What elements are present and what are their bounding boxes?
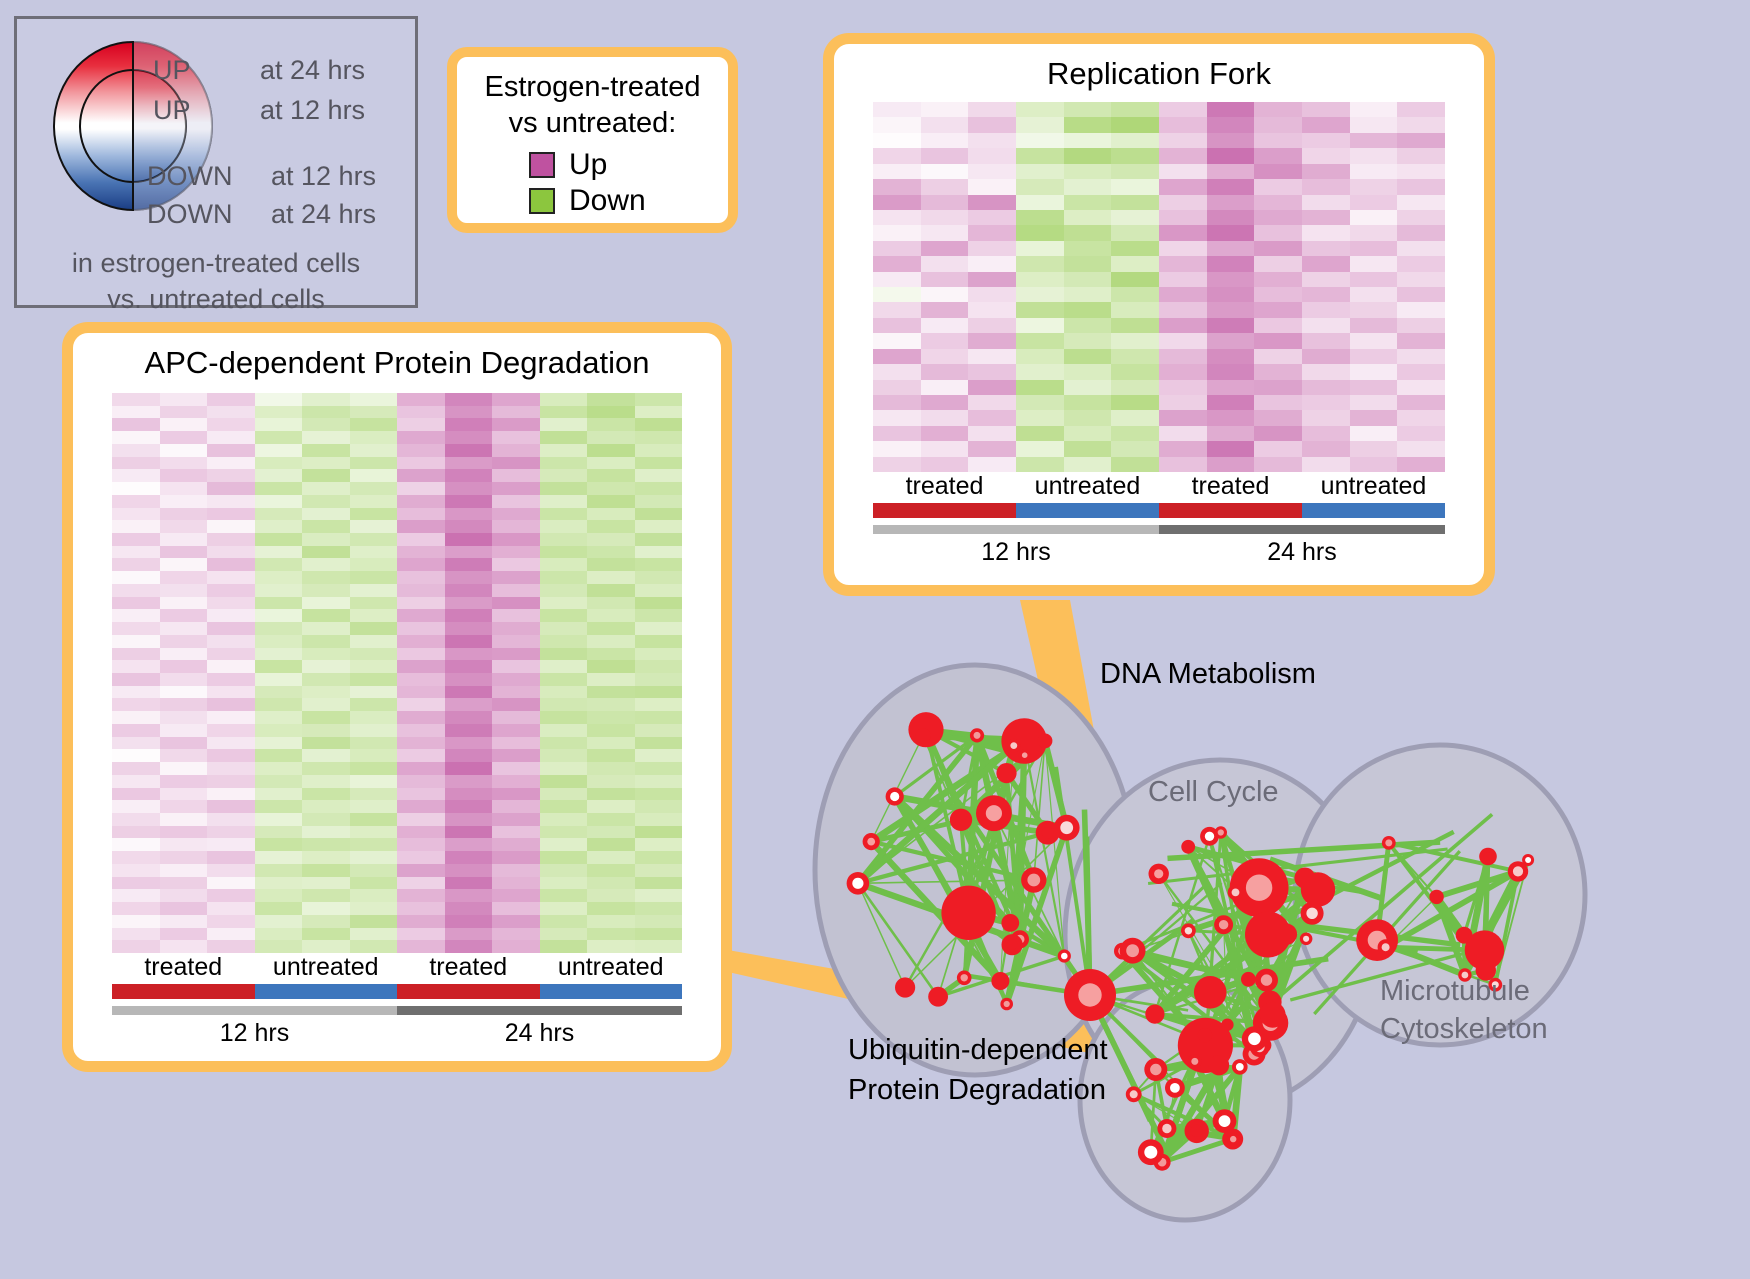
legend-label-down: Down — [569, 184, 646, 218]
heatmap-cell — [302, 571, 350, 584]
heatmap-cell — [492, 826, 540, 839]
heatmap-cell — [255, 558, 303, 571]
heatmap-cell — [1350, 364, 1398, 379]
heatmap-cell — [207, 609, 255, 622]
heatmap-cell — [635, 686, 683, 699]
heatmap-cell — [112, 698, 160, 711]
heatmap-cell — [350, 800, 398, 813]
network-node[interactable] — [950, 809, 972, 831]
heatmap-cell — [540, 800, 588, 813]
apc-axis: treateduntreatedtreateduntreated 12 hrs2… — [112, 953, 682, 1048]
heatmap-cell — [921, 256, 969, 271]
scale-time-down-12: at 12 hrs — [271, 161, 376, 192]
heatmap-cell — [207, 418, 255, 431]
heatmap-cell — [1159, 179, 1207, 194]
heatmap-cell — [587, 418, 635, 431]
heatmap-cell — [540, 877, 588, 890]
heatmap-cell — [540, 940, 588, 953]
heatmap-cell — [1159, 272, 1207, 287]
heatmap-cell — [207, 826, 255, 839]
heatmap-cell — [635, 775, 683, 788]
heatmap-cell — [1207, 395, 1255, 410]
heatmap-cell — [397, 826, 445, 839]
heatmap-cell — [1397, 318, 1445, 333]
network-node-core — [1061, 953, 1068, 960]
heatmap-cell — [207, 622, 255, 635]
heatmap-cell — [1397, 380, 1445, 395]
heatmap-cell — [445, 418, 493, 431]
heatmap-cell — [255, 838, 303, 851]
heatmap-cell — [350, 406, 398, 419]
heatmap-cell — [255, 622, 303, 635]
heatmap-cell — [921, 426, 969, 441]
network-node[interactable] — [1241, 972, 1256, 987]
heatmap-cell — [302, 724, 350, 737]
heatmap-cell — [160, 711, 208, 724]
heatmap-cell — [350, 673, 398, 686]
heatmap-cell — [540, 762, 588, 775]
network-node[interactable] — [1038, 734, 1053, 749]
heatmap-cell — [397, 648, 445, 661]
heatmap-cell — [160, 457, 208, 470]
heatmap-cell — [1064, 225, 1112, 240]
heatmap-cell — [1397, 256, 1445, 271]
heatmap-cell — [635, 851, 683, 864]
heatmap-cell — [350, 520, 398, 533]
heatmap-cell — [207, 813, 255, 826]
heatmap-cell — [255, 457, 303, 470]
heatmap-cell — [873, 179, 921, 194]
heatmap-cell — [540, 813, 588, 826]
heatmap-cell — [587, 889, 635, 902]
heatmap-cell — [160, 902, 208, 915]
heatmap-cell — [1159, 426, 1207, 441]
heatmap-cell — [1397, 457, 1445, 472]
heatmap-cell — [1064, 133, 1112, 148]
heatmap-cell — [350, 698, 398, 711]
heatmap-cell — [1207, 380, 1255, 395]
network-node[interactable] — [1001, 914, 1019, 932]
time-group-label: 12 hrs — [873, 538, 1159, 567]
heatmap-cell — [540, 431, 588, 444]
heatmap-cell — [1302, 364, 1350, 379]
heatmap-cell — [635, 877, 683, 890]
heatmap-cell — [1207, 225, 1255, 240]
heatmap-cell — [968, 395, 1016, 410]
heatmap-cell — [1159, 164, 1207, 179]
legend-item-down: Down — [529, 183, 728, 219]
network-node-core — [1130, 1090, 1138, 1098]
heatmap-cell — [968, 210, 1016, 225]
heatmap-cell — [1207, 195, 1255, 210]
heatmap-cell — [968, 225, 1016, 240]
heatmap-cell — [350, 940, 398, 953]
heatmap-cell — [1350, 179, 1398, 194]
heatmap-cell — [1159, 364, 1207, 379]
heatmap-cell — [1159, 102, 1207, 117]
heatmap-cell — [1016, 256, 1064, 271]
panel-replication-fork: Replication Fork treateduntreatedtreated… — [823, 33, 1495, 596]
heatmap-cell — [302, 915, 350, 928]
heatmap-cell — [397, 686, 445, 699]
heatmap-cell — [255, 418, 303, 431]
heatmap-cell — [1302, 102, 1350, 117]
heatmap-cell — [1302, 272, 1350, 287]
heatmap-cell — [1254, 210, 1302, 225]
heatmap-cell — [1064, 148, 1112, 163]
heatmap-cell — [350, 788, 398, 801]
heatmap-cell — [1159, 195, 1207, 210]
heatmap-cell — [1016, 395, 1064, 410]
heatmap-cell — [1302, 395, 1350, 410]
heatmap-cell — [1397, 302, 1445, 317]
heatmap-cell — [1254, 256, 1302, 271]
heatmap-cell — [445, 788, 493, 801]
heatmap-cell — [540, 711, 588, 724]
heatmap-cell — [1302, 457, 1350, 472]
network-node[interactable] — [1194, 976, 1227, 1009]
heatmap-cell — [255, 813, 303, 826]
heatmap-cell — [968, 102, 1016, 117]
apc-group-labels: treateduntreatedtreateduntreated — [112, 953, 682, 982]
heatmap-cell — [255, 635, 303, 648]
heatmap-cell — [207, 698, 255, 711]
heatmap-cell — [1207, 349, 1255, 364]
heatmap-cell — [540, 749, 588, 762]
heatmap-cell — [635, 813, 683, 826]
heatmap-cell — [540, 902, 588, 915]
heatmap-cell — [1016, 364, 1064, 379]
heatmap-cell — [350, 558, 398, 571]
heatmap-cell — [445, 838, 493, 851]
heatmap-cell — [873, 426, 921, 441]
heatmap-cell — [445, 660, 493, 673]
network-node[interactable] — [1145, 1005, 1164, 1024]
replication-fork-axis: treateduntreatedtreateduntreated 12 hrs2… — [873, 472, 1445, 567]
heatmap-cell — [255, 877, 303, 890]
heatmap-cell — [1207, 148, 1255, 163]
heatmap-cell — [1254, 380, 1302, 395]
heatmap-cell — [112, 762, 160, 775]
heatmap-cell — [492, 889, 540, 902]
heatmap-cell — [1397, 164, 1445, 179]
heatmap-cell — [1064, 457, 1112, 472]
heatmap-cell — [1397, 333, 1445, 348]
heatmap-cell — [1207, 210, 1255, 225]
heatmap-cell — [1111, 164, 1159, 179]
heatmap-cell — [397, 660, 445, 673]
heatmap-cell — [921, 302, 969, 317]
heatmap-cell — [397, 838, 445, 851]
heatmap-cell — [1254, 364, 1302, 379]
heatmap-cell — [302, 635, 350, 648]
heatmap-cell — [968, 179, 1016, 194]
heatmap-cell — [1397, 272, 1445, 287]
heatmap-cell — [635, 533, 683, 546]
heatmap-cell — [1302, 333, 1350, 348]
heatmap-cell — [397, 889, 445, 902]
heatmap-cell — [160, 737, 208, 750]
heatmap-cell — [160, 495, 208, 508]
heatmap-cell — [540, 469, 588, 482]
heatmap-cell — [492, 406, 540, 419]
heatmap-cell — [492, 648, 540, 661]
heatmap-cell — [1302, 164, 1350, 179]
heatmap-cell — [873, 102, 921, 117]
heatmap-cell — [112, 660, 160, 673]
heatmap-cell — [1350, 133, 1398, 148]
heatmap-cell — [1016, 241, 1064, 256]
heatmap-cell — [302, 520, 350, 533]
heatmap-cell — [255, 800, 303, 813]
heatmap-cell — [635, 673, 683, 686]
heatmap-cell — [445, 698, 493, 711]
heatmap-cell — [968, 272, 1016, 287]
heatmap-cell — [350, 508, 398, 521]
heatmap-cell — [350, 648, 398, 661]
heatmap-cell — [160, 724, 208, 737]
heatmap-cell — [1254, 102, 1302, 117]
heatmap-cell — [445, 406, 493, 419]
heatmap-cell — [1397, 287, 1445, 302]
heatmap-cell — [1064, 395, 1112, 410]
heatmap-cell — [492, 877, 540, 890]
heatmap-cell — [635, 660, 683, 673]
heatmap-cell — [1207, 117, 1255, 132]
heatmap-cell — [350, 431, 398, 444]
heatmap-cell — [350, 660, 398, 673]
network-node[interactable] — [941, 886, 995, 940]
network-node-core — [852, 878, 863, 889]
expression-legend-title-line2: vs untreated: — [457, 105, 728, 141]
heatmap-cell — [587, 698, 635, 711]
heatmap-cell — [1254, 441, 1302, 456]
heatmap-cell — [587, 406, 635, 419]
heatmap-cell — [1254, 225, 1302, 240]
heatmap-cell — [587, 584, 635, 597]
heatmap-cell — [160, 648, 208, 661]
heatmap-cell — [160, 597, 208, 610]
heatmap-cell — [350, 902, 398, 915]
heatmap-cell — [1159, 256, 1207, 271]
heatmap-cell — [968, 302, 1016, 317]
network-node[interactable] — [1221, 1019, 1233, 1031]
heatmap-cell — [160, 788, 208, 801]
heatmap-cell — [397, 584, 445, 597]
heatmap-cell — [207, 546, 255, 559]
heatmap-cell — [302, 902, 350, 915]
heatmap-cell — [1207, 426, 1255, 441]
network-node[interactable] — [1209, 1055, 1229, 1075]
heatmap-cell — [540, 597, 588, 610]
heatmap-cell — [207, 469, 255, 482]
heatmap-cell — [160, 686, 208, 699]
heatmap-cell — [1016, 349, 1064, 364]
heatmap-cell — [112, 495, 160, 508]
heatmap-cell — [302, 940, 350, 953]
heatmap-cell — [397, 609, 445, 622]
heatmap-cell — [540, 864, 588, 877]
heatmap-cell — [1397, 102, 1445, 117]
heatmap-cell — [540, 635, 588, 648]
heatmap-cell — [397, 520, 445, 533]
heatmap-cell — [445, 520, 493, 533]
network-node[interactable] — [1456, 927, 1473, 944]
heatmap-cell — [302, 826, 350, 839]
heatmap-cell — [255, 533, 303, 546]
network-node[interactable] — [1198, 1028, 1212, 1042]
heatmap-cell — [397, 546, 445, 559]
heatmap-cell — [1350, 272, 1398, 287]
heatmap-cell — [968, 380, 1016, 395]
heatmap-cell — [445, 457, 493, 470]
heatmap-cell — [587, 724, 635, 737]
heatmap-cell — [635, 597, 683, 610]
heatmap-cell — [445, 495, 493, 508]
heatmap-cell — [635, 940, 683, 953]
heatmap-cell — [1350, 380, 1398, 395]
heatmap-cell — [350, 418, 398, 431]
heatmap-cell — [160, 826, 208, 839]
network-node-core — [1144, 1146, 1157, 1159]
heatmap-cell — [255, 889, 303, 902]
heatmap-cell — [1302, 302, 1350, 317]
heatmap-cell — [587, 495, 635, 508]
heatmap-cell — [207, 940, 255, 953]
heatmap-cell — [587, 838, 635, 851]
heatmap-cell — [968, 287, 1016, 302]
heatmap-cell — [350, 889, 398, 902]
heatmap-cell — [1064, 179, 1112, 194]
heatmap-cell — [350, 533, 398, 546]
heatmap-cell — [1111, 318, 1159, 333]
heatmap-cell — [207, 800, 255, 813]
heatmap-cell — [587, 864, 635, 877]
heatmap-cell — [207, 686, 255, 699]
heatmap-cell — [255, 928, 303, 941]
heatmap-cell — [1064, 410, 1112, 425]
heatmap-cell — [397, 915, 445, 928]
heatmap-cell — [968, 457, 1016, 472]
heatmap-cell — [587, 469, 635, 482]
network-node[interactable] — [895, 977, 915, 997]
heatmap-cell — [445, 813, 493, 826]
time-bar-segment — [112, 1006, 397, 1015]
apc-heatmap — [112, 393, 682, 953]
heatmap-cell — [1111, 349, 1159, 364]
network-node[interactable] — [996, 763, 1016, 783]
heatmap-cell — [540, 406, 588, 419]
heatmap-cell — [1302, 241, 1350, 256]
heatmap-cell — [112, 889, 160, 902]
scale-footnote-line1: in estrogen-treated cells — [17, 245, 415, 281]
heatmap-cell — [397, 406, 445, 419]
heatmap-cell — [207, 889, 255, 902]
heatmap-cell — [255, 851, 303, 864]
heatmap-cell — [968, 117, 1016, 132]
heatmap-cell — [112, 737, 160, 750]
heatmap-cell — [207, 393, 255, 406]
heatmap-cell — [1159, 210, 1207, 225]
heatmap-cell — [350, 851, 398, 864]
network-node[interactable] — [1294, 868, 1315, 889]
network-node[interactable] — [1276, 924, 1297, 945]
heatmap-cell — [207, 597, 255, 610]
heatmap-cell — [1111, 148, 1159, 163]
heatmap-cell — [302, 418, 350, 431]
heatmap-cell — [492, 571, 540, 584]
heatmap-cell — [302, 851, 350, 864]
heatmap-cell — [255, 673, 303, 686]
heatmap-cell — [160, 431, 208, 444]
heatmap-cell — [587, 546, 635, 559]
network-node[interactable] — [916, 728, 931, 743]
heatmap-cell — [1111, 133, 1159, 148]
heatmap-cell — [587, 902, 635, 915]
heatmap-cell — [1064, 302, 1112, 317]
heatmap-cell — [587, 928, 635, 941]
heatmap-cell — [160, 508, 208, 521]
heatmap-cell — [397, 444, 445, 457]
heatmap-cell — [445, 902, 493, 915]
heatmap-cell — [445, 558, 493, 571]
heatmap-cell — [540, 826, 588, 839]
heatmap-cell — [492, 737, 540, 750]
network-node[interactable] — [1260, 1002, 1286, 1028]
heatmap-cell — [1111, 395, 1159, 410]
heatmap-cell — [255, 495, 303, 508]
heatmap-cell — [1207, 302, 1255, 317]
heatmap-cell — [492, 698, 540, 711]
heatmap-cell — [492, 495, 540, 508]
heatmap-cell — [445, 635, 493, 648]
heatmap-cell — [112, 609, 160, 622]
panel-apc-degradation: APC-dependent Protein Degradation treate… — [62, 322, 732, 1072]
heatmap-cell — [1254, 179, 1302, 194]
heatmap-cell — [873, 256, 921, 271]
heatmap-cell — [397, 813, 445, 826]
heatmap-cell — [160, 889, 208, 902]
heatmap-cell — [255, 546, 303, 559]
heatmap-cell — [1016, 318, 1064, 333]
replication-fork-title: Replication Fork — [834, 56, 1484, 92]
heatmap-cell — [445, 864, 493, 877]
heatmap-cell — [873, 225, 921, 240]
network-node[interactable] — [928, 987, 948, 1007]
heatmap-cell — [302, 444, 350, 457]
heatmap-cell — [350, 928, 398, 941]
heatmap-cell — [921, 380, 969, 395]
heatmap-cell — [587, 800, 635, 813]
heatmap-cell — [968, 426, 1016, 441]
apc-time-bars — [112, 1006, 682, 1015]
network-node-core — [1170, 1083, 1180, 1093]
heatmap-cell — [635, 520, 683, 533]
network-node-core — [1126, 944, 1139, 957]
heatmap-cell — [1207, 179, 1255, 194]
heatmap-cell — [492, 686, 540, 699]
heatmap-cell — [635, 711, 683, 724]
heatmap-cell — [160, 571, 208, 584]
heatmap-cell — [587, 775, 635, 788]
time-bar-segment — [873, 525, 1159, 534]
scale-time-up-24: at 24 hrs — [260, 55, 365, 86]
heatmap-cell — [540, 673, 588, 686]
heatmap-cell — [635, 571, 683, 584]
apc-treatment-bars — [112, 984, 682, 999]
heatmap-cell — [1111, 117, 1159, 132]
heatmap-cell — [255, 788, 303, 801]
